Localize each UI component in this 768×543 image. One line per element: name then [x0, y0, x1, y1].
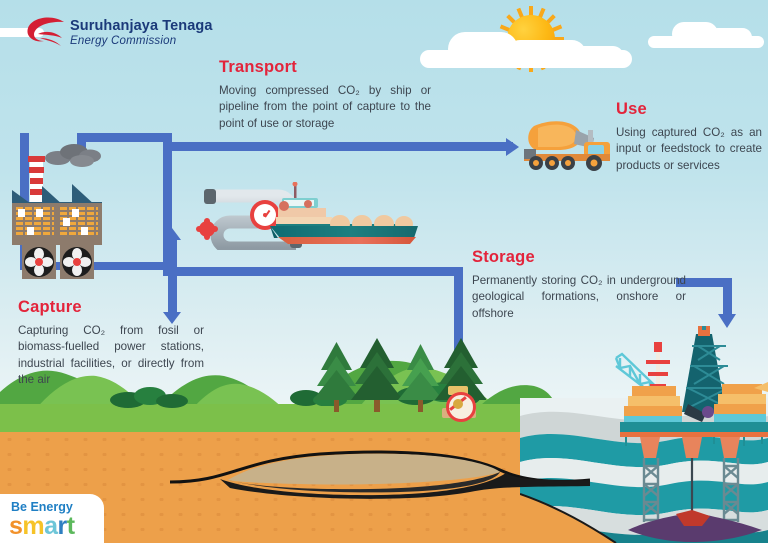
transport-body: Moving compressed CO₂ by ship or pipelin… — [219, 83, 431, 132]
air-capture-fan-icon — [22, 245, 94, 281]
capture-body: Capturing CO₂ from fosil or biomass-fuel… — [18, 323, 204, 389]
tagline-letter: s — [9, 512, 22, 541]
tagline-smart: smart — [9, 512, 75, 541]
section-capture: Capture Capturing CO₂ from fosil or biom… — [18, 298, 204, 389]
transport-heading: Transport — [219, 58, 431, 77]
storage-body: Permanently storing CO₂ in underground g… — [472, 273, 686, 322]
arrow-line-fans — [88, 262, 168, 270]
swoosh-icon — [26, 16, 66, 50]
tagline-letter: m — [22, 512, 44, 541]
cloud-icon — [420, 28, 632, 68]
logo: Suruhanjaya Tenaga Energy Commission — [26, 14, 236, 56]
infographic-canvas: Suruhanjaya Tenaga Energy Commission — [0, 0, 768, 543]
wellhead-icon — [438, 386, 480, 418]
arrow-line-transport — [163, 142, 513, 151]
cement-mixer-truck-icon — [518, 116, 616, 172]
section-storage: Storage Permanently storing CO₂ in under… — [472, 248, 686, 322]
factory-icon — [12, 140, 117, 245]
storage-heading: Storage — [472, 248, 686, 267]
use-heading: Use — [616, 100, 762, 119]
capture-heading: Capture — [18, 298, 204, 317]
cloud-icon — [648, 22, 764, 48]
arrow-line-storage-right-down — [723, 278, 732, 318]
underground-reservoir-icon — [170, 446, 590, 516]
section-use: Use Using captured CO₂ as an input or fe… — [616, 100, 762, 174]
tagline-letter: r — [58, 512, 67, 541]
tagline-letter: t — [67, 512, 75, 541]
logo-subtitle: Energy Commission — [70, 35, 176, 47]
offshore-oil-rig-icon — [614, 326, 768, 543]
tanker-ship-icon — [268, 182, 420, 244]
arrow-line-storage-horizontal — [163, 267, 463, 276]
smoke-icon — [42, 138, 112, 172]
valve-wheel-icon — [196, 218, 218, 240]
logo-name: Suruhanjaya Tenaga — [70, 18, 213, 34]
use-body: Using captured CO₂ as an input or feedst… — [616, 125, 762, 174]
tagline-letter: a — [44, 512, 57, 541]
tagline-panel: Be Energy smart — [0, 494, 104, 543]
section-transport: Transport Moving compressed CO₂ by ship … — [219, 58, 431, 132]
